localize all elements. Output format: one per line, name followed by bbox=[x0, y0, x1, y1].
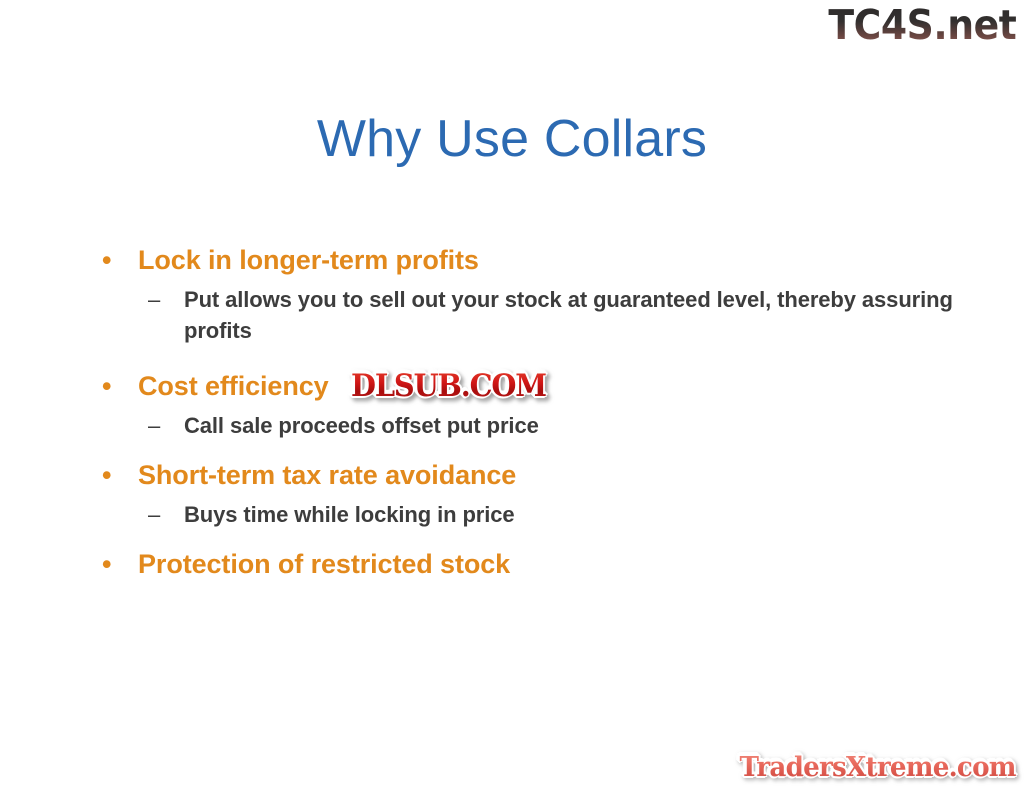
bullet-text: Lock in longer-term profits bbox=[138, 240, 479, 280]
spacer bbox=[96, 447, 976, 455]
subbullet-item-buys-time: – Buys time while locking in price bbox=[96, 499, 976, 530]
presentation-slide: TC4S.net Why Use Collars • Lock in longe… bbox=[0, 0, 1024, 791]
slide-title: Why Use Collars bbox=[0, 108, 1024, 170]
subbullet-item-put-allows: – Put allows you to sell out your stock … bbox=[96, 284, 976, 346]
slide-body: • Lock in longer-term profits – Put allo… bbox=[96, 240, 976, 588]
tradersxtreme-watermark: TradersXtreme.com bbox=[740, 751, 1016, 785]
dlsub-watermark: DLSUB.COM bbox=[351, 370, 546, 405]
bullet-item-protection-restricted-stock: • Protection of restricted stock bbox=[96, 544, 976, 584]
bullet-item-lock-in-profits: • Lock in longer-term profits bbox=[96, 240, 976, 280]
bullet-marker-dot: • bbox=[102, 240, 124, 280]
spacer bbox=[96, 352, 976, 366]
subbullet-marker-dash: – bbox=[148, 499, 160, 530]
bullet-marker-dot: • bbox=[102, 366, 124, 406]
subbullet-marker-dash: – bbox=[148, 284, 160, 315]
bullet-text: Short-term tax rate avoidance bbox=[138, 455, 516, 495]
subbullet-text: Buys time while locking in price bbox=[184, 502, 515, 527]
bullet-marker-dot: • bbox=[102, 455, 124, 495]
bullet-item-cost-efficiency: • Cost efficiency DLSUB.COM bbox=[96, 366, 976, 406]
subbullet-marker-dash: – bbox=[148, 410, 160, 441]
bullet-marker-dot: • bbox=[102, 544, 124, 584]
subbullet-text: Call sale proceeds offset put price bbox=[184, 413, 539, 438]
subbullet-item-call-sale-proceeds: – Call sale proceeds offset put price bbox=[96, 410, 976, 441]
tc4s-brand-logo: TC4S.net bbox=[828, 2, 1016, 48]
bullet-text: Protection of restricted stock bbox=[138, 544, 510, 584]
spacer bbox=[96, 536, 976, 544]
bullet-text: Cost efficiency bbox=[138, 366, 329, 406]
bullet-item-short-term-tax: • Short-term tax rate avoidance bbox=[96, 455, 976, 495]
subbullet-text: Put allows you to sell out your stock at… bbox=[184, 287, 953, 343]
